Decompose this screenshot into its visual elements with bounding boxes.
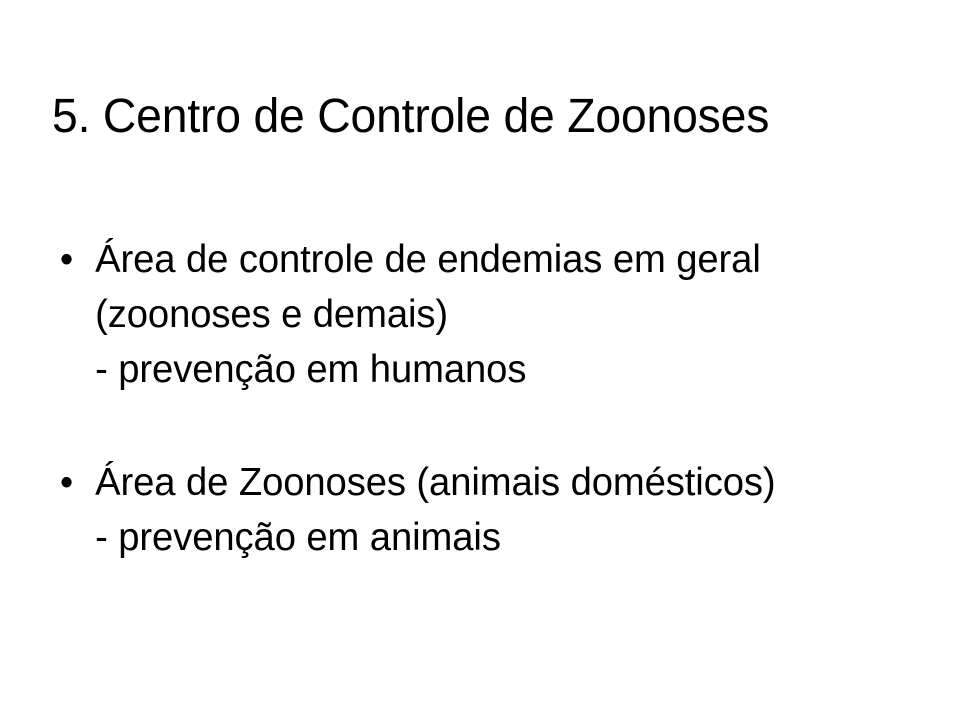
list-item: • Área de Zoonoses (animais domésticos) [52,455,905,510]
page-title: 5. Centro de Controle de Zoonoses [52,88,892,146]
list-item-label: Área de Zoonoses (animais domésticos) [95,455,904,510]
slide-canvas: 5. Centro de Controle de Zoonoses • Área… [0,0,960,720]
sub-list-item: - prevenção em animais [52,510,905,565]
bullet-point-icon: • [60,455,85,510]
bullet-point-icon: • [60,232,85,287]
list-item-label: Área de controle de endemias em geral (z… [95,232,904,342]
sub-list-item: - prevenção em humanos [52,342,905,397]
bullet-group: • Área de Zoonoses (animais domésticos) … [52,455,922,565]
bullet-group: • Área de controle de endemias em geral … [52,232,922,397]
slide-body: • Área de controle de endemias em geral … [52,232,922,565]
list-item: • Área de controle de endemias em geral … [52,232,905,342]
